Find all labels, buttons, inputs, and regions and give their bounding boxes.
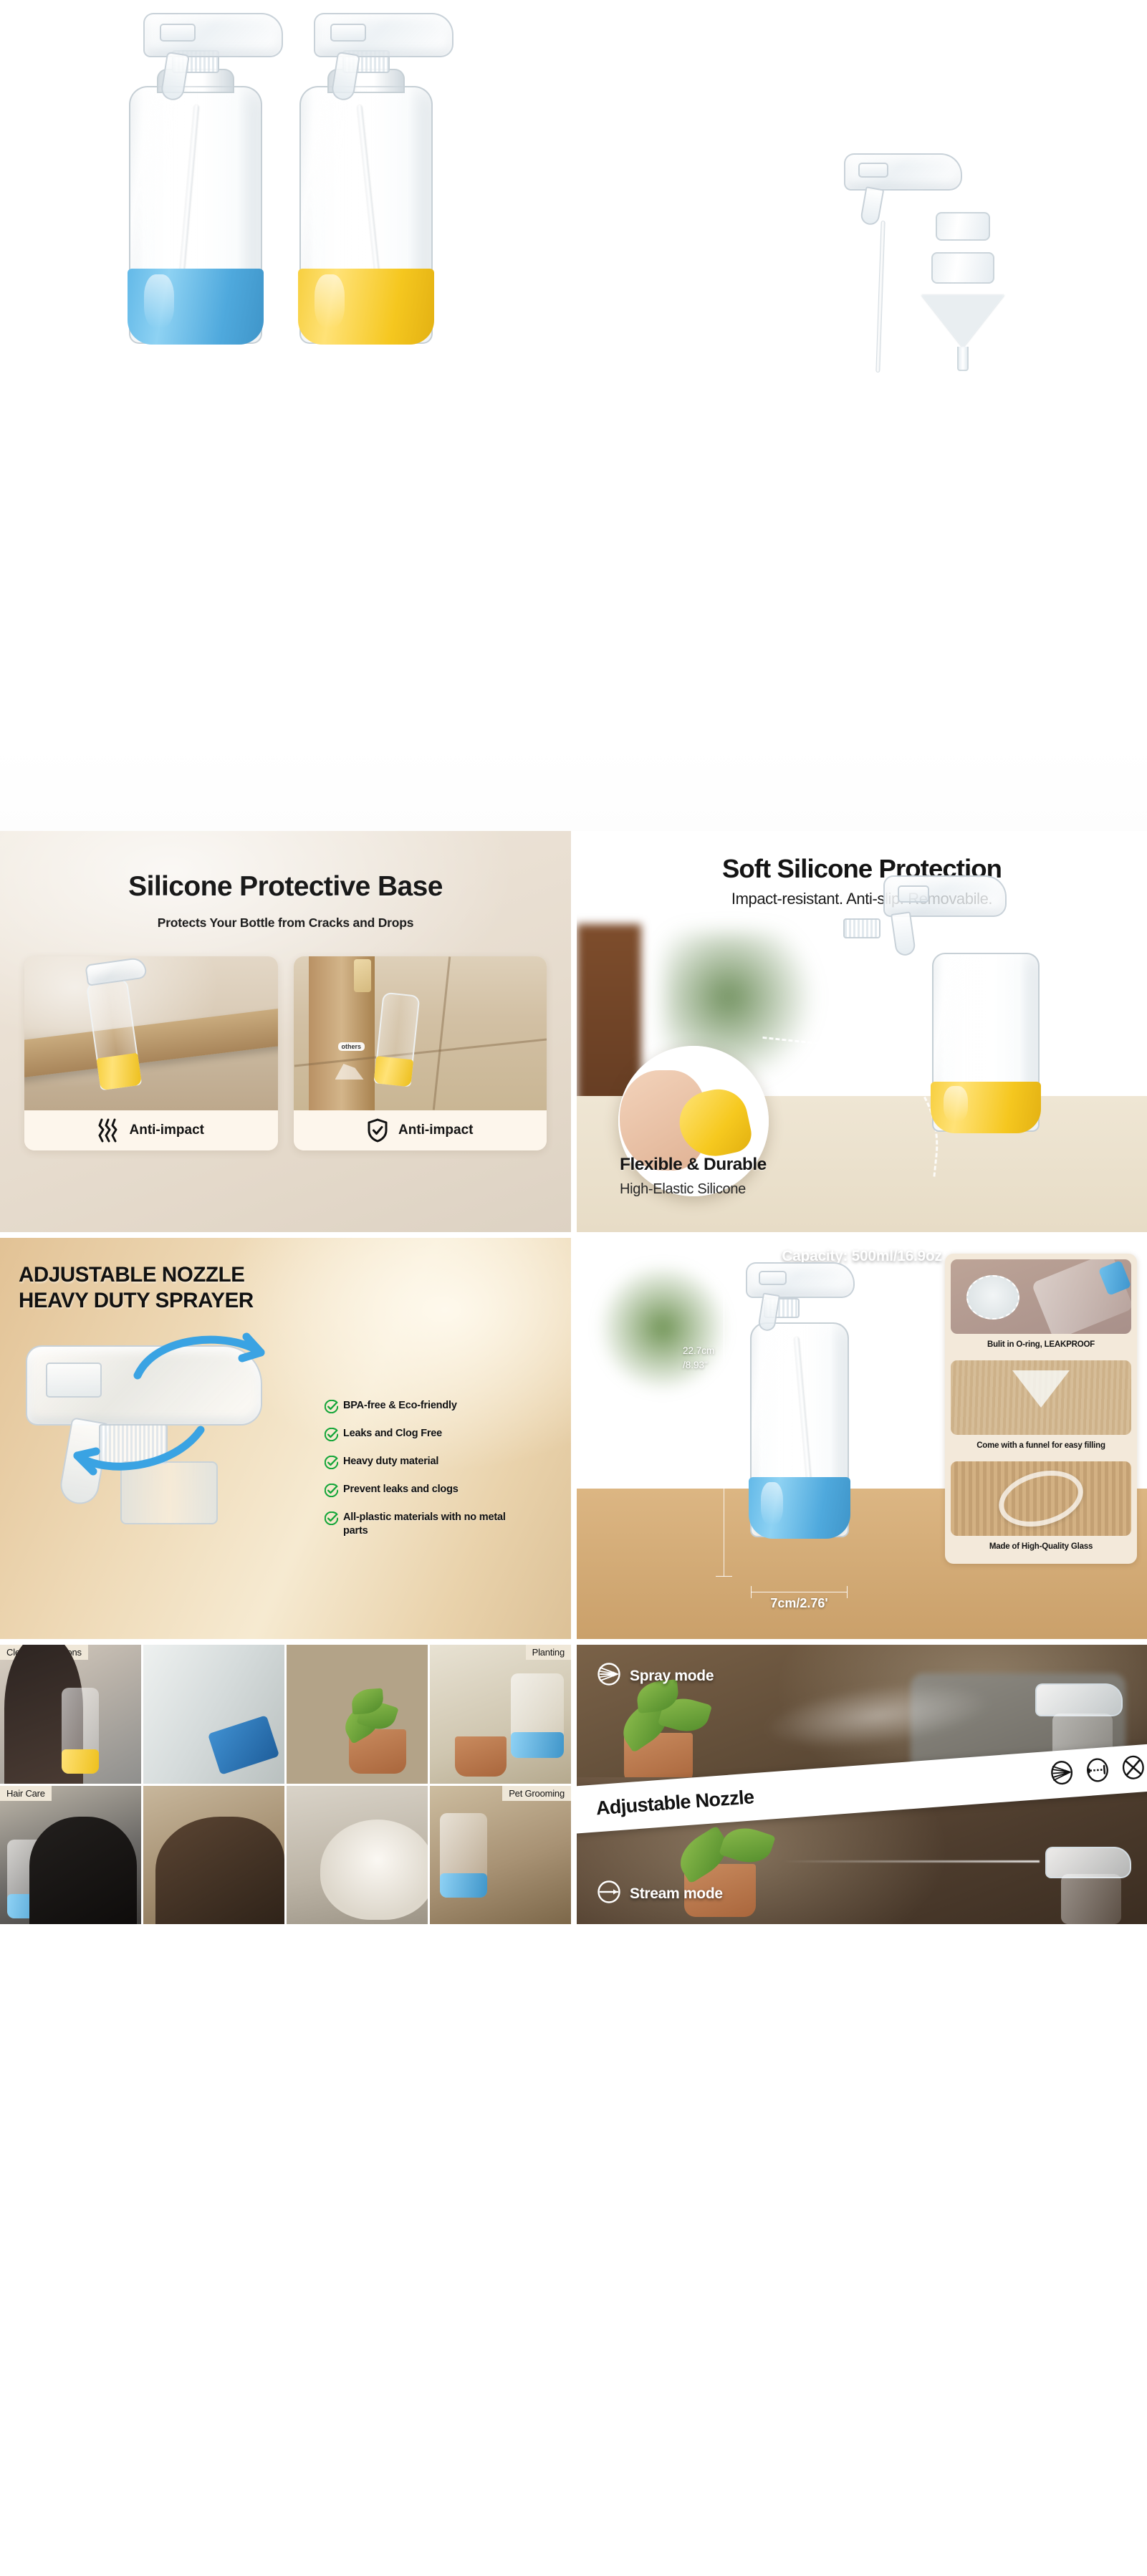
accessory-cap-small: [936, 212, 990, 241]
card-photo-oring: [951, 1259, 1131, 1334]
feature-list-item: All-plastic materials with no metal part…: [325, 1511, 561, 1537]
panel-capacity-dimensions: Capacity: 500ml/16.9oz 22.7cm /8.93": [577, 1238, 1147, 1639]
base-card: others Anti-impact: [294, 956, 547, 1150]
funnel-cone: [921, 295, 1004, 348]
feature-list-item: Prevent leaks and clogs: [325, 1483, 561, 1501]
base-card: Anti-impact: [24, 956, 278, 1150]
spray-bottle-in-hand: [1061, 1874, 1121, 1924]
base-card-list: Anti-impact others: [0, 931, 571, 1150]
trigger-window: [898, 885, 929, 903]
mini-spray-bottle: [373, 992, 420, 1087]
silicone-base: [62, 1749, 99, 1774]
stream-jet-icon: [597, 1880, 621, 1908]
panel-subtitle: Protects Your Bottle from Cracks and Dro…: [0, 915, 571, 931]
base-highlight: [761, 1482, 783, 1525]
use-case-cell-pet-grooming: Pet Grooming: [430, 1786, 571, 1925]
card-caption: Made of High-Quality Glass: [951, 1536, 1131, 1558]
plant-pot: [455, 1736, 507, 1777]
product-listing-page: Silicone Protective Base Protects Your B…: [0, 0, 1147, 2576]
trigger-head: [883, 875, 1007, 917]
panel-adjustable-nozzle: ADJUSTABLE NOZZLE HEAVY DUTY SPRAYER: [0, 1238, 571, 1639]
accessory-trigger-sprayer: [844, 153, 962, 191]
use-case-cell-cleaning: Cleaning Solutions: [0, 1645, 141, 1784]
silicone-base: [440, 1873, 487, 1898]
use-case-tag: Pet Grooming: [502, 1786, 571, 1801]
accessory-trigger-lever: [860, 186, 885, 226]
trigger-head: [1035, 1683, 1123, 1716]
glass-bottle-mouth: [992, 1462, 1089, 1536]
dashed-arc-pointer: [750, 1037, 948, 1177]
others-chip-label: others: [338, 1042, 365, 1051]
mini-bottle-silicone-base: [96, 1053, 142, 1091]
blue-base-bottle-photo: [750, 1322, 849, 1537]
feature-list: BPA-free & Eco-friendly Leaks and Clog F…: [325, 1399, 561, 1537]
check-circle-icon: [325, 1512, 338, 1529]
wood-counter-edge: [24, 1008, 278, 1078]
funnel-illustration: [1012, 1370, 1070, 1408]
feature-text: All-plastic materials with no metal part…: [343, 1511, 522, 1537]
feature-list-item: BPA-free & Eco-friendly: [325, 1399, 561, 1417]
card-photo-funnel: [951, 1360, 1131, 1435]
panel-title: Silicone Protective Base: [0, 831, 571, 903]
trigger-lever: [891, 911, 916, 956]
trigger-head: [746, 1262, 855, 1298]
panel-title-line-1: ADJUSTABLE NOZZLE: [19, 1262, 571, 1288]
panel-title: Soft Silicone Protection: [577, 831, 1147, 884]
mini-trigger-head: [85, 956, 147, 986]
mini-bottle-silicone-base: [373, 1056, 413, 1087]
card-photo-glass: [951, 1461, 1131, 1536]
use-case-tag: Planting: [526, 1645, 571, 1660]
card-label-text: Anti-impact: [130, 1123, 205, 1138]
mode-icon-group: [1048, 1754, 1147, 1790]
blurred-plant: [598, 1267, 727, 1403]
feature-text: Leaks and Clog Free: [343, 1427, 442, 1441]
spray-mode-label: Spray mode: [630, 1668, 714, 1685]
use-case-cell-planting: Planting: [430, 1645, 571, 1784]
silicone-base: [931, 1082, 1041, 1133]
silicone-base: [511, 1732, 564, 1758]
card-caption: Come with a funnel for easy filling: [951, 1435, 1131, 1457]
off-cross-icon: [1120, 1754, 1147, 1785]
feature-text: Prevent leaks and clogs: [343, 1483, 459, 1496]
width-dimension-line: [751, 1592, 848, 1592]
card-label-text: Anti-impact: [398, 1123, 474, 1138]
person-head: [155, 1817, 284, 1924]
tile-grout-line: [432, 956, 450, 1110]
silicone-base: [749, 1477, 850, 1539]
base-highlight: [144, 274, 174, 327]
silicone-base: [298, 269, 434, 345]
window-glass: [143, 1645, 284, 1784]
hero-product-photo: [0, 0, 1147, 831]
accessory-straw: [875, 221, 885, 373]
use-case-cell-hair-care: Hair Care: [0, 1786, 141, 1925]
callout-title: Flexible & Durable: [620, 1155, 767, 1175]
panel-use-cases: Cleaning Solutions: [0, 1645, 571, 1924]
hand-silhouette: [354, 959, 371, 992]
person-silhouette: [29, 1817, 137, 1924]
width-dimension-label: 7cm/2.76': [751, 1596, 848, 1611]
check-circle-icon: [325, 1428, 338, 1445]
trigger-window: [46, 1363, 102, 1398]
trigger-head: [314, 13, 453, 57]
check-circle-icon: [325, 1484, 338, 1501]
rotate-arrow-down-icon: [66, 1414, 209, 1493]
impact-wave-icon: [98, 1118, 120, 1143]
capacity-feature-card: Made of High-Quality Glass: [951, 1461, 1131, 1558]
trigger-window: [759, 1271, 786, 1285]
use-case-cell-window: [143, 1645, 284, 1784]
yellow-base-bottle: [299, 86, 433, 344]
hero-floor: [0, 745, 1147, 831]
feature-list-item: Leaks and Clog Free: [325, 1427, 561, 1445]
water-stream: [782, 1860, 1040, 1863]
card-photo-tile-floor: others: [294, 956, 547, 1110]
blue-base-bottle: [129, 86, 262, 344]
panel-row-2: ADJUSTABLE NOZZLE HEAVY DUTY SPRAYER: [0, 1238, 1147, 1639]
spray-bottle-photo: [932, 953, 1040, 1132]
use-case-cell-dog: [287, 1786, 428, 1925]
spray-cone-icon: [1048, 1759, 1076, 1790]
rotate-arrow-up-icon: [128, 1322, 271, 1401]
stream-mode-badge: Stream mode: [597, 1880, 723, 1908]
trigger-head: [143, 13, 283, 57]
panel-row-3: Cleaning Solutions: [0, 1645, 1147, 1924]
bottle-collar: [843, 918, 880, 938]
panel-nozzle-modes: Spray mode: [577, 1645, 1147, 1924]
feature-list-item: Heavy duty material: [325, 1455, 561, 1473]
funnel-stem: [957, 347, 969, 371]
spray-cone-icon: [597, 1662, 621, 1691]
panel-title-line-2: HEAVY DUTY SPRAYER: [19, 1288, 571, 1314]
panel-soft-silicone-protection: Soft Silicone Protection Impact-resistan…: [577, 831, 1147, 1232]
use-case-grid: Cleaning Solutions: [0, 1645, 571, 1924]
shield-check-icon: [367, 1118, 388, 1143]
height-value-in: /8.93": [683, 1358, 714, 1373]
o-ring-closeup: [966, 1275, 1019, 1320]
card-label-row: Anti-impact: [294, 1110, 547, 1150]
stream-mode-label: Stream mode: [630, 1885, 723, 1903]
trigger-window: [858, 163, 888, 178]
base-highlight: [944, 1086, 968, 1122]
panel-subtitle: Impact-resistant. Anti-slip. Removabile.: [577, 890, 1147, 908]
base-highlight: [315, 274, 345, 327]
height-value-cm: 22.7cm: [683, 1344, 714, 1358]
silicone-base: [128, 269, 264, 345]
accessory-cap-large: [931, 252, 994, 284]
use-case-cell-hair-spray: [143, 1786, 284, 1925]
check-circle-icon: [325, 1456, 338, 1473]
stream-jet-icon: [1084, 1756, 1112, 1787]
height-dimension-line: [724, 1279, 724, 1577]
mini-spray-bottle: [86, 979, 142, 1091]
plant-leaf: [719, 1822, 776, 1870]
use-case-cell-plant: [287, 1645, 428, 1784]
check-circle-icon: [325, 1400, 338, 1417]
card-label-row: Anti-impact: [24, 1110, 278, 1150]
trigger-window: [160, 24, 196, 42]
card-photo-kitchen-counter: [24, 956, 278, 1110]
card-caption: Bulit in O-ring, LEAKPROOF: [951, 1334, 1131, 1356]
dog-photo: [320, 1820, 428, 1920]
panel-title: ADJUSTABLE NOZZLE HEAVY DUTY SPRAYER: [0, 1238, 571, 1314]
panel-row-1: Silicone Protective Base Protects Your B…: [0, 831, 1147, 1232]
panel-silicone-protective-base: Silicone Protective Base Protects Your B…: [0, 831, 571, 1232]
use-case-tag: Hair Care: [0, 1786, 52, 1801]
capacity-feature-card: Come with a funnel for easy filling: [951, 1360, 1131, 1457]
capacity-feature-card: Bulit in O-ring, LEAKPROOF: [951, 1259, 1131, 1356]
band-title: Adjustable Nozzle: [595, 1786, 755, 1820]
trigger-window: [330, 24, 366, 42]
spray-mode-badge: Spray mode: [597, 1662, 714, 1691]
capacity-feature-card-list: Bulit in O-ring, LEAKPROOF Come with a f…: [945, 1254, 1137, 1564]
callout-subtitle: High-Elastic Silicone: [620, 1181, 746, 1198]
feature-text: Heavy duty material: [343, 1455, 438, 1469]
accessory-funnel: [921, 295, 1004, 374]
feature-panels: Silicone Protective Base Protects Your B…: [0, 831, 1147, 1930]
feature-text: BPA-free & Eco-friendly: [343, 1399, 457, 1413]
height-dimension-label: 22.7cm /8.93": [683, 1344, 714, 1373]
